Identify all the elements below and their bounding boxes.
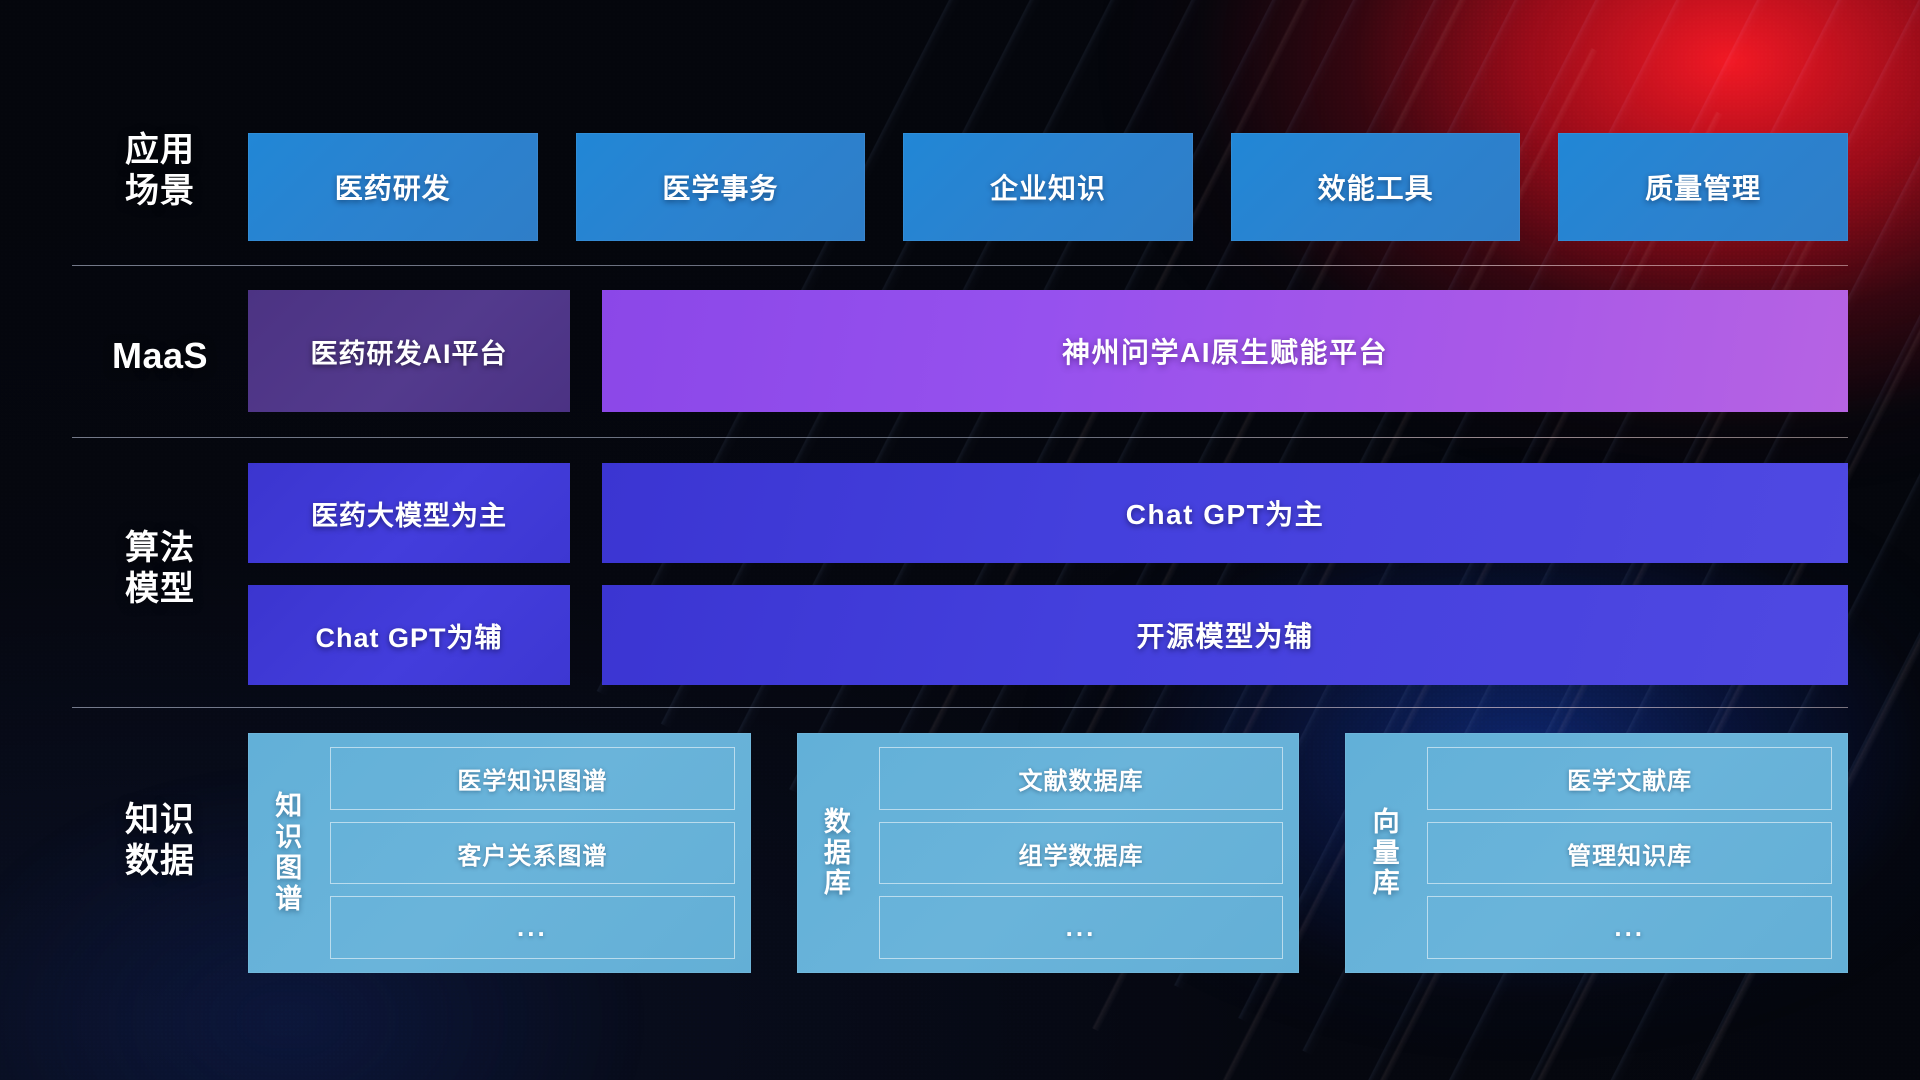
knowledge-item-literature-database[interactable]: 文献数据库	[879, 747, 1284, 810]
divider-maas-algorithm	[72, 437, 1848, 438]
knowledge-group-items: 医学文献库 管理知识库 ...	[1427, 747, 1832, 959]
knowledge-item-medical-knowledge-graph[interactable]: 医学知识图谱	[330, 747, 735, 810]
knowledge-group-vector-store: 向 量 库 医学文献库 管理知识库 ...	[1345, 733, 1848, 973]
algorithm-box-label: 医药大模型为主	[311, 494, 507, 533]
algorithm-box-label: Chat GPT为主	[1126, 493, 1325, 533]
knowledge-item-more[interactable]: ...	[330, 896, 735, 959]
algorithm-line-secondary: Chat GPT为辅 开源模型为辅	[248, 585, 1848, 685]
knowledge-group-title: 知 识 图 谱	[258, 747, 320, 959]
app-box-quality-management[interactable]: 质量管理	[1558, 133, 1848, 241]
algorithm-box-label: Chat GPT为辅	[315, 616, 502, 655]
app-box-label: 医学事务	[662, 167, 778, 207]
app-box-efficiency-tools[interactable]: 效能工具	[1231, 133, 1521, 241]
row-label-knowledge: 知识 数据	[80, 800, 240, 883]
knowledge-group-title: 向 量 库	[1355, 747, 1417, 959]
knowledge-group-items: 医学知识图谱 客户关系图谱 ...	[330, 747, 735, 959]
app-box-medical-affairs[interactable]: 医学事务	[576, 133, 866, 241]
algorithm-model-row: 医药大模型为主 Chat GPT为主 Chat GPT为辅 开源模型为辅	[248, 463, 1848, 685]
knowledge-item-more[interactable]: ...	[1427, 896, 1832, 959]
algorithm-line-primary: 医药大模型为主 Chat GPT为主	[248, 463, 1848, 563]
divider-algorithm-knowledge	[72, 707, 1848, 708]
app-box-label: 医药研发	[335, 167, 451, 207]
knowledge-group-knowledge-graph: 知 识 图 谱 医学知识图谱 客户关系图谱 ...	[248, 733, 751, 973]
application-scenario-row: 医药研发 医学事务 企业知识 效能工具 质量管理	[248, 133, 1848, 241]
algorithm-box-chatgpt-secondary[interactable]: Chat GPT为辅	[248, 585, 570, 685]
app-box-label: 效能工具	[1318, 167, 1434, 207]
row-label-maas: MaaS	[80, 334, 240, 378]
knowledge-item-medical-literature-store[interactable]: 医学文献库	[1427, 747, 1832, 810]
knowledge-item-customer-relation-graph[interactable]: 客户关系图谱	[330, 822, 735, 885]
app-box-medicine-rnd[interactable]: 医药研发	[248, 133, 538, 241]
knowledge-group-database: 数 据 库 文献数据库 组学数据库 ...	[797, 733, 1300, 973]
knowledge-item-more[interactable]: ...	[879, 896, 1284, 959]
algorithm-box-label: 开源模型为辅	[1136, 615, 1313, 655]
maas-box-medicine-ai-platform[interactable]: 医药研发AI平台	[248, 290, 570, 412]
knowledge-group-title: 数 据 库	[807, 747, 869, 959]
diagram-canvas: 应用 场景 医药研发 医学事务 企业知识 效能工具 质量管理 MaaS 医药研发…	[0, 0, 1920, 1080]
knowledge-item-omics-database[interactable]: 组学数据库	[879, 822, 1284, 885]
row-label-algorithm: 算法 模型	[80, 528, 240, 611]
algorithm-box-opensource-secondary[interactable]: 开源模型为辅	[602, 585, 1848, 685]
knowledge-item-management-knowledge-store[interactable]: 管理知识库	[1427, 822, 1832, 885]
knowledge-data-row: 知 识 图 谱 医学知识图谱 客户关系图谱 ... 数 据 库 文献数据库 组学…	[248, 733, 1848, 973]
maas-box-label: 医药研发AI平台	[311, 332, 508, 371]
maas-box-shenzhou-wenxue-platform[interactable]: 神州问学AI原生赋能平台	[602, 290, 1848, 412]
divider-application-maas	[72, 265, 1848, 266]
algorithm-box-chatgpt-primary[interactable]: Chat GPT为主	[602, 463, 1848, 563]
app-box-label: 质量管理	[1645, 167, 1761, 207]
app-box-enterprise-knowledge[interactable]: 企业知识	[903, 133, 1193, 241]
knowledge-group-items: 文献数据库 组学数据库 ...	[879, 747, 1284, 959]
algorithm-box-medicine-llm-primary[interactable]: 医药大模型为主	[248, 463, 570, 563]
maas-box-label: 神州问学AI原生赋能平台	[1062, 331, 1388, 371]
app-box-label: 企业知识	[990, 167, 1106, 207]
maas-row: 医药研发AI平台 神州问学AI原生赋能平台	[248, 290, 1848, 412]
row-label-application: 应用 场景	[80, 130, 240, 213]
